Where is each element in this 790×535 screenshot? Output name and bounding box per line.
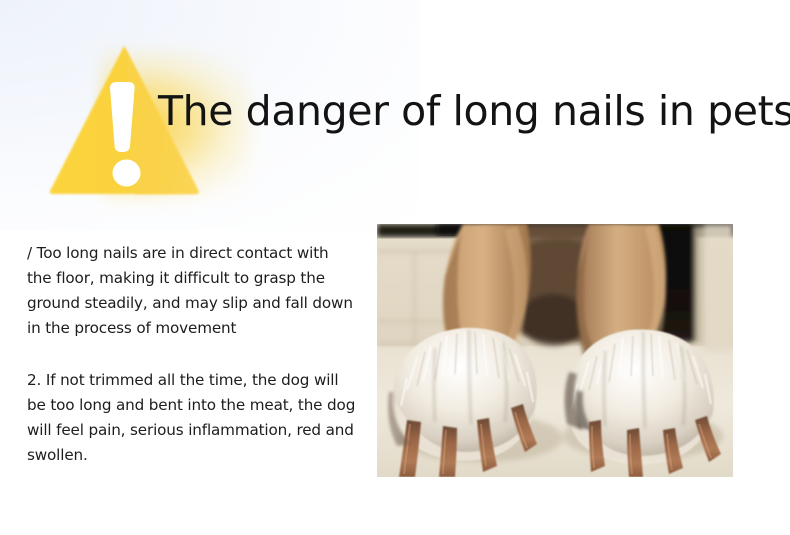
page-title: The danger of long nails in pets (158, 88, 790, 135)
body-paragraph-2: 2. If not trimmed all the time, the dog … (27, 368, 357, 468)
slide-canvas: The danger of long nails in pets / Too l… (0, 0, 790, 535)
photo-artwork (377, 224, 733, 477)
body-copy: / Too long nails are in direct contact w… (27, 226, 357, 483)
dog-paws-with-long-nails-photo (377, 224, 733, 477)
slide-header: The danger of long nails in pets (0, 0, 790, 205)
body-paragraph-1: / Too long nails are in direct contact w… (27, 241, 357, 341)
